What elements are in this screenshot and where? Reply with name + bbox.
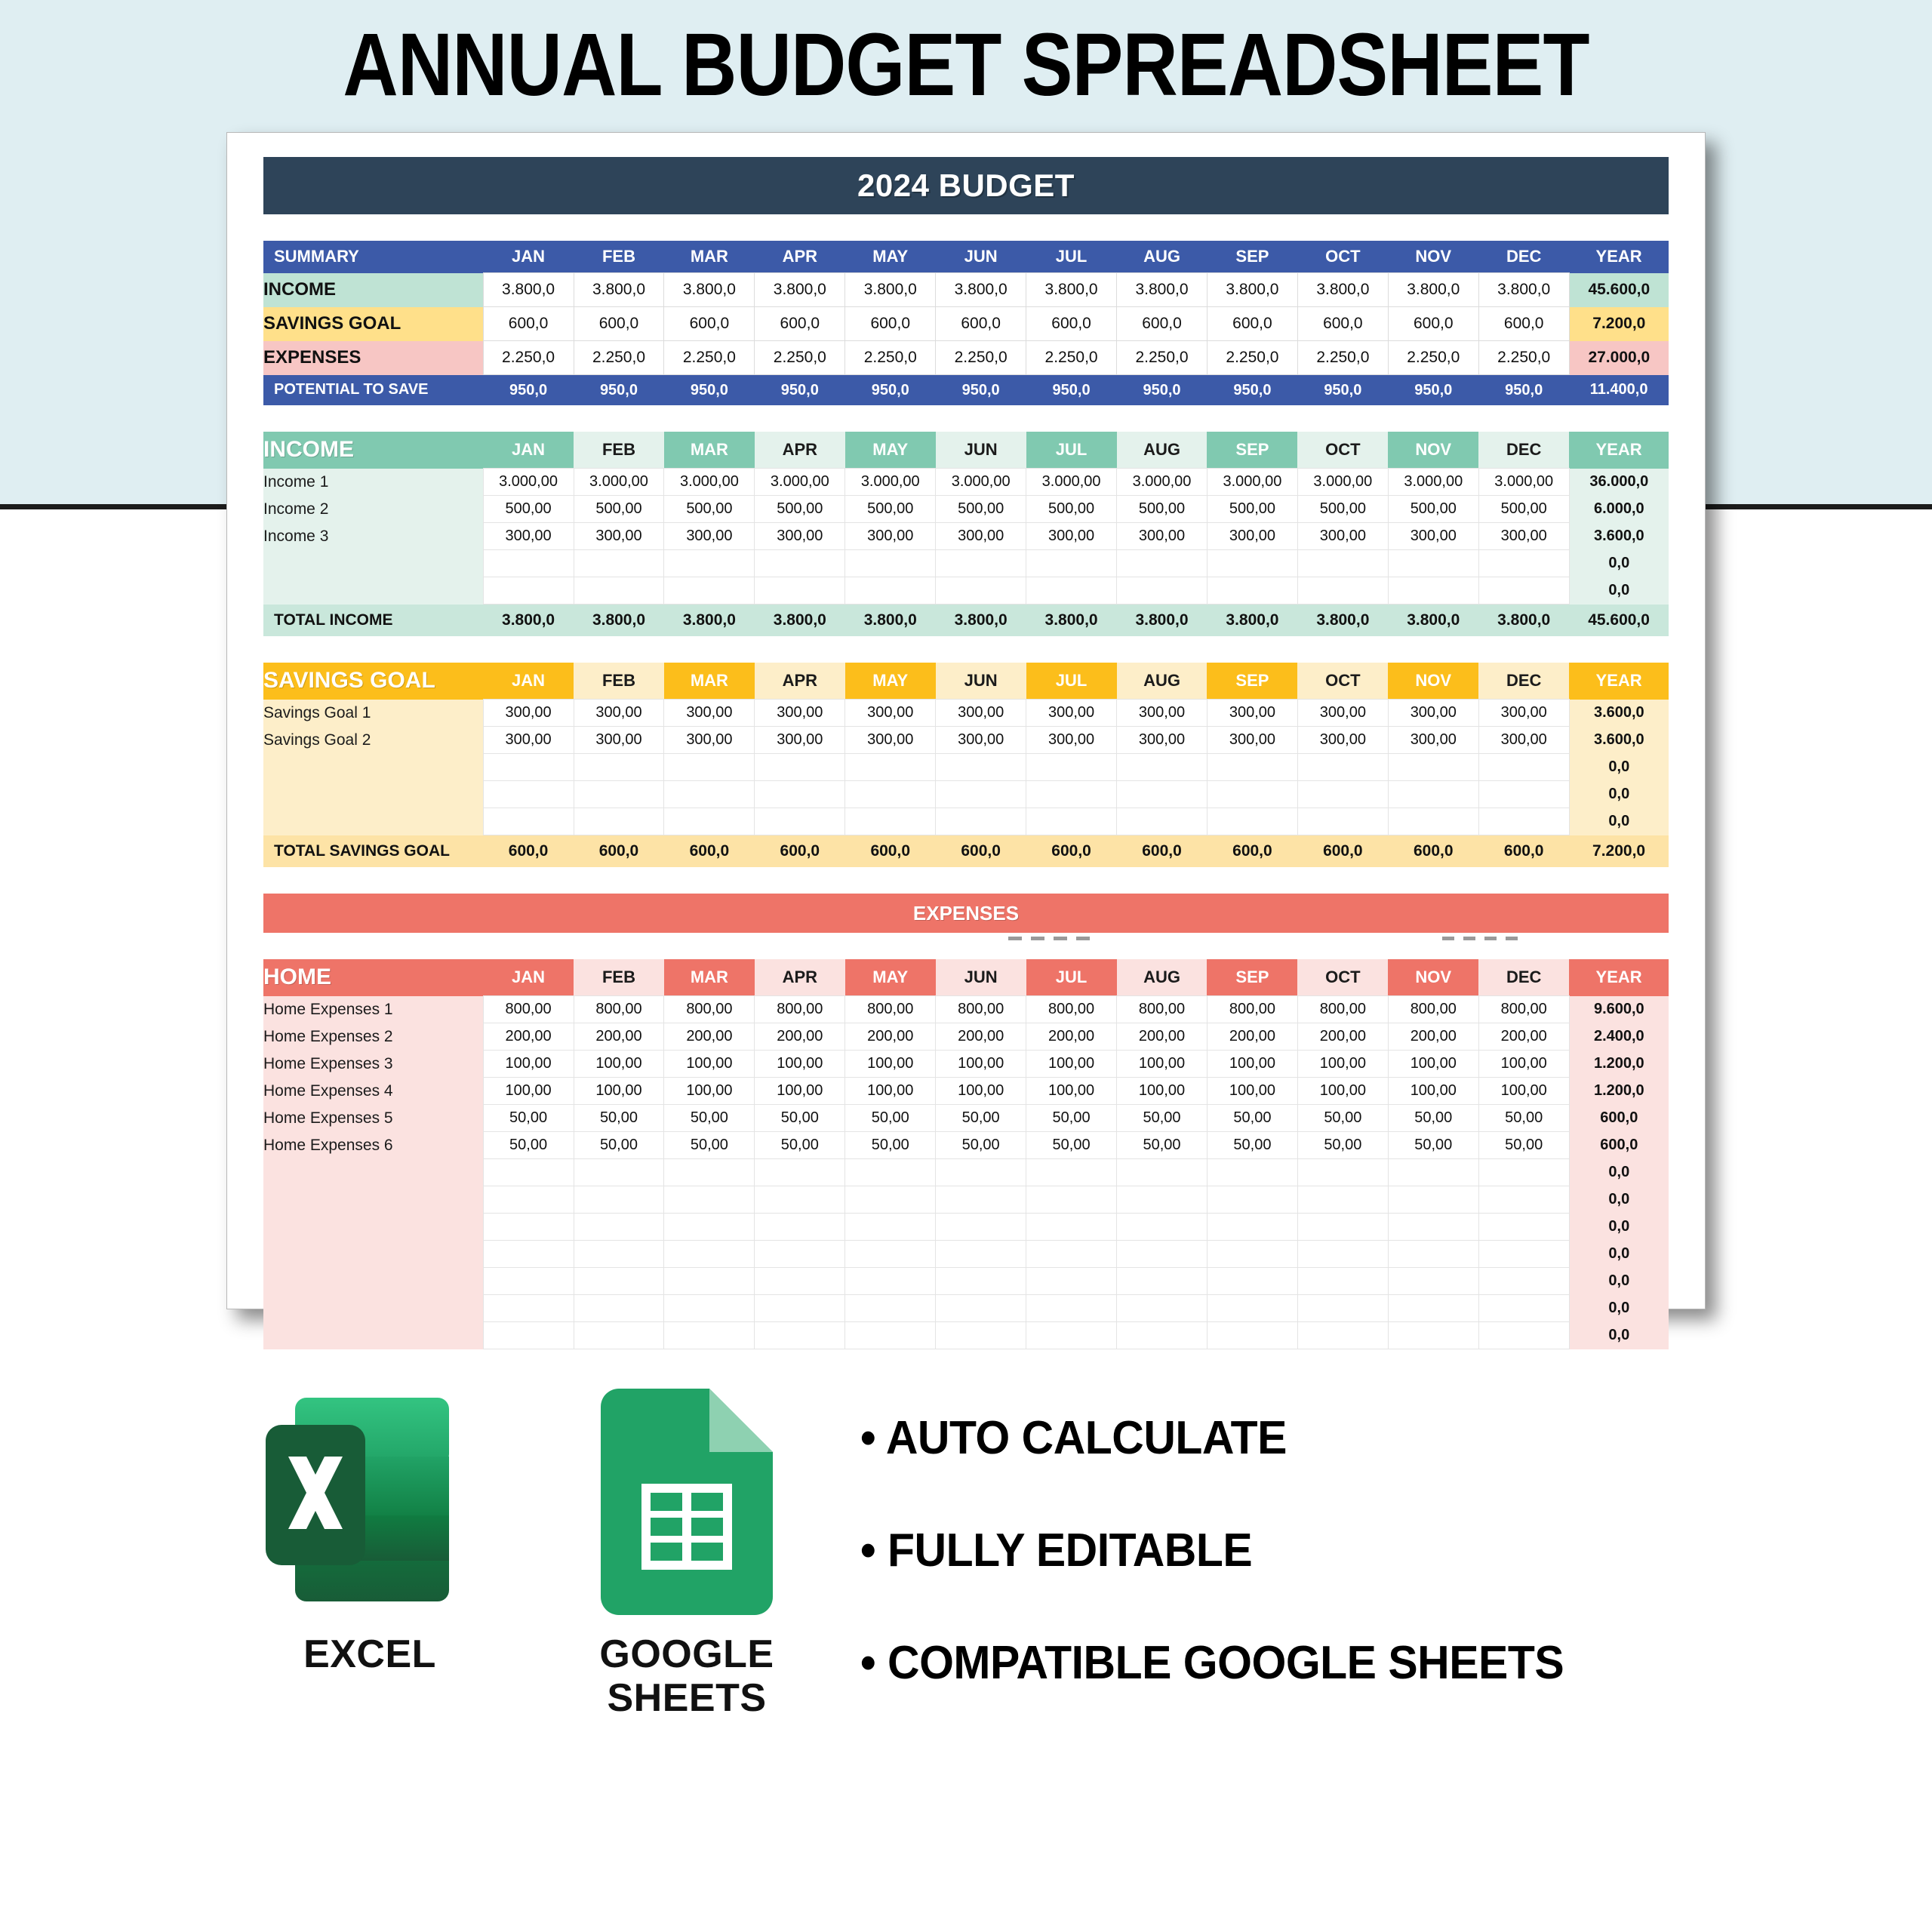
expenses-cell[interactable] bbox=[574, 1322, 664, 1349]
expenses-cell[interactable]: 50,00 bbox=[755, 1132, 845, 1159]
expenses-cell[interactable] bbox=[574, 1268, 664, 1295]
income-cell[interactable]: 300,00 bbox=[1117, 523, 1207, 550]
expenses-cell[interactable]: 800,00 bbox=[1117, 996, 1207, 1023]
income-cell[interactable]: 3.000,00 bbox=[664, 469, 755, 496]
expenses-cell[interactable]: 100,00 bbox=[936, 1078, 1026, 1105]
expenses-cell[interactable] bbox=[936, 1241, 1026, 1268]
income-cell[interactable] bbox=[483, 550, 574, 577]
income-cell[interactable] bbox=[845, 550, 936, 577]
income-cell[interactable] bbox=[1207, 550, 1297, 577]
expenses-cell[interactable] bbox=[1117, 1159, 1207, 1186]
savings-cell[interactable] bbox=[1388, 754, 1478, 781]
expenses-cell[interactable]: 50,00 bbox=[1117, 1132, 1207, 1159]
income-cell[interactable]: 3.000,00 bbox=[936, 469, 1026, 496]
expenses-cell[interactable] bbox=[664, 1214, 755, 1241]
savings-row-label[interactable] bbox=[263, 754, 483, 781]
summary-cell[interactable]: 2.250,0 bbox=[664, 341, 755, 375]
expenses-cell[interactable]: 200,00 bbox=[574, 1023, 664, 1051]
expenses-cell[interactable] bbox=[1117, 1268, 1207, 1295]
savings-cell[interactable] bbox=[1117, 781, 1207, 808]
income-cell[interactable] bbox=[1117, 550, 1207, 577]
expenses-cell[interactable]: 200,00 bbox=[1388, 1023, 1478, 1051]
income-cell[interactable]: 500,00 bbox=[1388, 496, 1478, 523]
expenses-cell[interactable] bbox=[1117, 1214, 1207, 1241]
savings-cell[interactable]: 300,00 bbox=[574, 727, 664, 754]
expenses-cell[interactable] bbox=[1388, 1186, 1478, 1214]
savings-cell[interactable]: 300,00 bbox=[755, 727, 845, 754]
expenses-cell[interactable]: 100,00 bbox=[755, 1078, 845, 1105]
summary-cell[interactable]: 3.800,0 bbox=[936, 273, 1026, 307]
expenses-cell[interactable] bbox=[1478, 1159, 1569, 1186]
expenses-cell[interactable]: 100,00 bbox=[1117, 1078, 1207, 1105]
expenses-cell[interactable] bbox=[483, 1295, 574, 1322]
summary-cell[interactable]: 600,0 bbox=[755, 307, 845, 341]
expenses-cell[interactable]: 50,00 bbox=[1117, 1105, 1207, 1132]
savings-cell[interactable]: 300,00 bbox=[1297, 727, 1388, 754]
expenses-cell[interactable]: 200,00 bbox=[1117, 1023, 1207, 1051]
expenses-cell[interactable]: 100,00 bbox=[1207, 1078, 1297, 1105]
income-cell[interactable] bbox=[1297, 550, 1388, 577]
expenses-cell[interactable] bbox=[845, 1241, 936, 1268]
expenses-cell[interactable]: 100,00 bbox=[574, 1051, 664, 1078]
income-cell[interactable] bbox=[483, 577, 574, 605]
expenses-cell[interactable]: 100,00 bbox=[1297, 1078, 1388, 1105]
expenses-cell[interactable] bbox=[1388, 1241, 1478, 1268]
income-cell[interactable] bbox=[1117, 577, 1207, 605]
expenses-cell[interactable]: 800,00 bbox=[845, 996, 936, 1023]
expenses-cell[interactable]: 100,00 bbox=[1117, 1051, 1207, 1078]
income-cell[interactable] bbox=[1478, 550, 1569, 577]
savings-cell[interactable] bbox=[1297, 781, 1388, 808]
savings-cell[interactable]: 300,00 bbox=[936, 700, 1026, 727]
income-cell[interactable] bbox=[574, 550, 664, 577]
income-cell[interactable]: 300,00 bbox=[845, 523, 936, 550]
income-cell[interactable] bbox=[1207, 577, 1297, 605]
savings-cell[interactable] bbox=[845, 808, 936, 835]
expenses-cell[interactable]: 100,00 bbox=[574, 1078, 664, 1105]
expenses-cell[interactable] bbox=[1117, 1295, 1207, 1322]
income-cell[interactable]: 500,00 bbox=[1297, 496, 1388, 523]
expenses-row-label[interactable]: Home Expenses 6 bbox=[263, 1132, 483, 1159]
income-cell[interactable]: 300,00 bbox=[1026, 523, 1117, 550]
income-cell[interactable]: 500,00 bbox=[1117, 496, 1207, 523]
expenses-cell[interactable] bbox=[483, 1186, 574, 1214]
expenses-cell[interactable] bbox=[755, 1159, 845, 1186]
savings-cell[interactable] bbox=[1388, 808, 1478, 835]
expenses-cell[interactable] bbox=[1026, 1214, 1117, 1241]
expenses-row-label[interactable] bbox=[263, 1186, 483, 1214]
summary-cell[interactable]: 600,0 bbox=[845, 307, 936, 341]
expenses-row-label[interactable]: Home Expenses 4 bbox=[263, 1078, 483, 1105]
expenses-cell[interactable]: 100,00 bbox=[936, 1051, 1026, 1078]
expenses-cell[interactable]: 50,00 bbox=[1388, 1105, 1478, 1132]
expenses-row-label[interactable] bbox=[263, 1322, 483, 1349]
summary-cell[interactable]: 2.250,0 bbox=[845, 341, 936, 375]
expenses-cell[interactable]: 200,00 bbox=[1297, 1023, 1388, 1051]
income-cell[interactable]: 300,00 bbox=[1207, 523, 1297, 550]
income-cell[interactable]: 300,00 bbox=[1297, 523, 1388, 550]
savings-cell[interactable] bbox=[1297, 808, 1388, 835]
expenses-cell[interactable] bbox=[1026, 1186, 1117, 1214]
expenses-cell[interactable]: 100,00 bbox=[1388, 1078, 1478, 1105]
summary-cell[interactable]: 600,0 bbox=[936, 307, 1026, 341]
expenses-row-label[interactable]: Home Expenses 3 bbox=[263, 1051, 483, 1078]
income-cell[interactable]: 3.000,00 bbox=[845, 469, 936, 496]
summary-cell[interactable]: 600,0 bbox=[1117, 307, 1207, 341]
expenses-cell[interactable] bbox=[1388, 1268, 1478, 1295]
savings-cell[interactable] bbox=[664, 808, 755, 835]
income-cell[interactable]: 3.000,00 bbox=[755, 469, 845, 496]
savings-cell[interactable] bbox=[483, 754, 574, 781]
income-cell[interactable] bbox=[755, 577, 845, 605]
savings-cell[interactable]: 300,00 bbox=[1207, 700, 1297, 727]
expenses-cell[interactable]: 200,00 bbox=[1207, 1023, 1297, 1051]
savings-cell[interactable]: 300,00 bbox=[845, 727, 936, 754]
savings-cell[interactable] bbox=[1117, 808, 1207, 835]
expenses-cell[interactable] bbox=[936, 1214, 1026, 1241]
expenses-cell[interactable]: 50,00 bbox=[1478, 1105, 1569, 1132]
expenses-cell[interactable]: 50,00 bbox=[1026, 1132, 1117, 1159]
expenses-cell[interactable]: 50,00 bbox=[1207, 1105, 1297, 1132]
savings-cell[interactable] bbox=[1478, 781, 1569, 808]
expenses-row-label[interactable] bbox=[263, 1268, 483, 1295]
income-row-label[interactable] bbox=[263, 550, 483, 577]
expenses-row-label[interactable] bbox=[263, 1241, 483, 1268]
expenses-row-label[interactable]: Home Expenses 1 bbox=[263, 996, 483, 1023]
summary-cell[interactable]: 600,0 bbox=[1026, 307, 1117, 341]
expenses-cell[interactable] bbox=[1478, 1186, 1569, 1214]
summary-cell[interactable]: 2.250,0 bbox=[936, 341, 1026, 375]
expenses-cell[interactable] bbox=[936, 1186, 1026, 1214]
expenses-cell[interactable] bbox=[664, 1241, 755, 1268]
summary-cell[interactable]: 600,0 bbox=[664, 307, 755, 341]
expenses-cell[interactable]: 50,00 bbox=[1207, 1132, 1297, 1159]
income-cell[interactable]: 3.000,00 bbox=[1297, 469, 1388, 496]
income-cell[interactable]: 500,00 bbox=[664, 496, 755, 523]
summary-cell[interactable]: 3.800,0 bbox=[845, 273, 936, 307]
expenses-cell[interactable]: 50,00 bbox=[483, 1105, 574, 1132]
savings-cell[interactable] bbox=[1207, 754, 1297, 781]
expenses-cell[interactable]: 100,00 bbox=[483, 1078, 574, 1105]
income-cell[interactable] bbox=[1297, 577, 1388, 605]
savings-row-label[interactable] bbox=[263, 781, 483, 808]
summary-cell[interactable]: 3.800,0 bbox=[664, 273, 755, 307]
summary-cell[interactable]: 3.800,0 bbox=[483, 273, 574, 307]
income-cell[interactable] bbox=[664, 550, 755, 577]
summary-cell[interactable]: 600,0 bbox=[1478, 307, 1569, 341]
savings-cell[interactable]: 300,00 bbox=[1207, 727, 1297, 754]
expenses-cell[interactable] bbox=[483, 1322, 574, 1349]
summary-cell[interactable]: 600,0 bbox=[574, 307, 664, 341]
expenses-cell[interactable]: 100,00 bbox=[845, 1078, 936, 1105]
summary-cell[interactable]: 3.800,0 bbox=[1207, 273, 1297, 307]
expenses-cell[interactable]: 200,00 bbox=[1026, 1023, 1117, 1051]
savings-cell[interactable]: 300,00 bbox=[1026, 727, 1117, 754]
savings-cell[interactable] bbox=[845, 754, 936, 781]
expenses-cell[interactable]: 100,00 bbox=[1026, 1078, 1117, 1105]
savings-cell[interactable] bbox=[1207, 808, 1297, 835]
expenses-cell[interactable] bbox=[574, 1295, 664, 1322]
income-cell[interactable]: 3.000,00 bbox=[483, 469, 574, 496]
expenses-cell[interactable]: 50,00 bbox=[845, 1105, 936, 1132]
savings-cell[interactable] bbox=[664, 781, 755, 808]
expenses-cell[interactable]: 800,00 bbox=[1026, 996, 1117, 1023]
expenses-cell[interactable]: 50,00 bbox=[936, 1105, 1026, 1132]
expenses-cell[interactable]: 800,00 bbox=[1297, 996, 1388, 1023]
income-cell[interactable]: 500,00 bbox=[1478, 496, 1569, 523]
expenses-cell[interactable]: 800,00 bbox=[936, 996, 1026, 1023]
expenses-cell[interactable] bbox=[936, 1268, 1026, 1295]
expenses-cell[interactable] bbox=[574, 1159, 664, 1186]
savings-cell[interactable]: 300,00 bbox=[574, 700, 664, 727]
expenses-cell[interactable] bbox=[1207, 1159, 1297, 1186]
expenses-cell[interactable]: 100,00 bbox=[664, 1051, 755, 1078]
income-row-label[interactable] bbox=[263, 577, 483, 605]
savings-cell[interactable] bbox=[755, 781, 845, 808]
expenses-cell[interactable] bbox=[1117, 1186, 1207, 1214]
savings-row-label[interactable]: Savings Goal 1 bbox=[263, 700, 483, 727]
expenses-cell[interactable]: 200,00 bbox=[936, 1023, 1026, 1051]
savings-cell[interactable] bbox=[1478, 754, 1569, 781]
income-cell[interactable]: 300,00 bbox=[1388, 523, 1478, 550]
expenses-cell[interactable]: 100,00 bbox=[1207, 1051, 1297, 1078]
expenses-cell[interactable]: 100,00 bbox=[483, 1051, 574, 1078]
income-cell[interactable]: 300,00 bbox=[755, 523, 845, 550]
expenses-cell[interactable]: 100,00 bbox=[845, 1051, 936, 1078]
income-cell[interactable]: 500,00 bbox=[1026, 496, 1117, 523]
income-cell[interactable]: 3.000,00 bbox=[1026, 469, 1117, 496]
expenses-cell[interactable]: 200,00 bbox=[755, 1023, 845, 1051]
expenses-cell[interactable] bbox=[845, 1295, 936, 1322]
income-cell[interactable] bbox=[1026, 550, 1117, 577]
expenses-cell[interactable] bbox=[574, 1186, 664, 1214]
savings-cell[interactable]: 300,00 bbox=[1026, 700, 1117, 727]
savings-cell[interactable] bbox=[664, 754, 755, 781]
savings-cell[interactable]: 300,00 bbox=[755, 700, 845, 727]
income-cell[interactable]: 300,00 bbox=[664, 523, 755, 550]
expenses-cell[interactable]: 50,00 bbox=[1297, 1132, 1388, 1159]
expenses-cell[interactable] bbox=[1297, 1268, 1388, 1295]
expenses-cell[interactable] bbox=[483, 1268, 574, 1295]
expenses-cell[interactable]: 200,00 bbox=[483, 1023, 574, 1051]
expenses-cell[interactable] bbox=[845, 1214, 936, 1241]
expenses-cell[interactable] bbox=[1207, 1268, 1297, 1295]
savings-cell[interactable] bbox=[1478, 808, 1569, 835]
expenses-cell[interactable] bbox=[574, 1241, 664, 1268]
savings-cell[interactable]: 300,00 bbox=[483, 727, 574, 754]
expenses-cell[interactable] bbox=[936, 1295, 1026, 1322]
expenses-cell[interactable] bbox=[1117, 1322, 1207, 1349]
expenses-row-label[interactable]: Home Expenses 5 bbox=[263, 1105, 483, 1132]
savings-cell[interactable]: 300,00 bbox=[664, 700, 755, 727]
expenses-cell[interactable]: 50,00 bbox=[845, 1132, 936, 1159]
expenses-cell[interactable] bbox=[664, 1159, 755, 1186]
expenses-cell[interactable] bbox=[1388, 1214, 1478, 1241]
summary-cell[interactable]: 2.250,0 bbox=[1026, 341, 1117, 375]
summary-cell[interactable]: 3.800,0 bbox=[1297, 273, 1388, 307]
expenses-cell[interactable] bbox=[755, 1268, 845, 1295]
income-row-label[interactable]: Income 2 bbox=[263, 496, 483, 523]
savings-cell[interactable]: 300,00 bbox=[664, 727, 755, 754]
savings-cell[interactable]: 300,00 bbox=[1297, 700, 1388, 727]
summary-cell[interactable]: 2.250,0 bbox=[574, 341, 664, 375]
income-cell[interactable]: 300,00 bbox=[936, 523, 1026, 550]
expenses-cell[interactable] bbox=[845, 1268, 936, 1295]
savings-cell[interactable] bbox=[1026, 754, 1117, 781]
expenses-cell[interactable] bbox=[664, 1322, 755, 1349]
savings-cell[interactable] bbox=[755, 754, 845, 781]
savings-cell[interactable]: 300,00 bbox=[845, 700, 936, 727]
expenses-cell[interactable]: 50,00 bbox=[936, 1132, 1026, 1159]
expenses-cell[interactable] bbox=[845, 1322, 936, 1349]
expenses-cell[interactable] bbox=[483, 1241, 574, 1268]
expenses-cell[interactable]: 100,00 bbox=[1388, 1051, 1478, 1078]
summary-cell[interactable]: 600,0 bbox=[483, 307, 574, 341]
income-cell[interactable] bbox=[1026, 577, 1117, 605]
income-cell[interactable] bbox=[574, 577, 664, 605]
expenses-cell[interactable]: 50,00 bbox=[483, 1132, 574, 1159]
expenses-cell[interactable]: 200,00 bbox=[664, 1023, 755, 1051]
savings-cell[interactable] bbox=[755, 808, 845, 835]
expenses-cell[interactable]: 50,00 bbox=[1388, 1132, 1478, 1159]
savings-cell[interactable]: 300,00 bbox=[1117, 700, 1207, 727]
income-cell[interactable]: 500,00 bbox=[936, 496, 1026, 523]
expenses-cell[interactable]: 100,00 bbox=[1026, 1051, 1117, 1078]
income-cell[interactable]: 500,00 bbox=[845, 496, 936, 523]
expenses-row-label[interactable] bbox=[263, 1295, 483, 1322]
income-cell[interactable]: 500,00 bbox=[574, 496, 664, 523]
expenses-row-label[interactable] bbox=[263, 1159, 483, 1186]
expenses-cell[interactable] bbox=[664, 1295, 755, 1322]
expenses-cell[interactable] bbox=[1207, 1186, 1297, 1214]
savings-cell[interactable] bbox=[1297, 754, 1388, 781]
expenses-cell[interactable] bbox=[574, 1214, 664, 1241]
expenses-cell[interactable] bbox=[1026, 1268, 1117, 1295]
income-cell[interactable] bbox=[845, 577, 936, 605]
savings-cell[interactable]: 300,00 bbox=[483, 700, 574, 727]
expenses-cell[interactable] bbox=[1026, 1295, 1117, 1322]
expenses-cell[interactable]: 50,00 bbox=[1026, 1105, 1117, 1132]
expenses-cell[interactable] bbox=[1117, 1241, 1207, 1268]
expenses-cell[interactable]: 100,00 bbox=[1297, 1051, 1388, 1078]
expenses-cell[interactable] bbox=[1297, 1322, 1388, 1349]
expenses-cell[interactable] bbox=[1478, 1268, 1569, 1295]
income-cell[interactable] bbox=[936, 550, 1026, 577]
income-cell[interactable] bbox=[936, 577, 1026, 605]
expenses-cell[interactable]: 100,00 bbox=[664, 1078, 755, 1105]
income-cell[interactable]: 500,00 bbox=[483, 496, 574, 523]
expenses-cell[interactable]: 50,00 bbox=[664, 1132, 755, 1159]
summary-cell[interactable]: 3.800,0 bbox=[1117, 273, 1207, 307]
summary-cell[interactable]: 3.800,0 bbox=[755, 273, 845, 307]
expenses-cell[interactable] bbox=[1207, 1241, 1297, 1268]
expenses-cell[interactable] bbox=[1478, 1295, 1569, 1322]
expenses-cell[interactable]: 800,00 bbox=[1478, 996, 1569, 1023]
expenses-cell[interactable] bbox=[1026, 1159, 1117, 1186]
savings-cell[interactable] bbox=[1026, 781, 1117, 808]
income-cell[interactable]: 500,00 bbox=[1207, 496, 1297, 523]
income-cell[interactable] bbox=[1478, 577, 1569, 605]
expenses-cell[interactable] bbox=[1297, 1159, 1388, 1186]
expenses-row-label[interactable] bbox=[263, 1214, 483, 1241]
savings-cell[interactable]: 300,00 bbox=[1388, 700, 1478, 727]
savings-cell[interactable] bbox=[936, 808, 1026, 835]
expenses-cell[interactable] bbox=[845, 1186, 936, 1214]
expenses-cell[interactable] bbox=[936, 1159, 1026, 1186]
income-row-label[interactable]: Income 1 bbox=[263, 469, 483, 496]
expenses-cell[interactable] bbox=[1207, 1322, 1297, 1349]
savings-cell[interactable] bbox=[1117, 754, 1207, 781]
summary-cell[interactable]: 2.250,0 bbox=[755, 341, 845, 375]
summary-cell[interactable]: 3.800,0 bbox=[574, 273, 664, 307]
savings-cell[interactable] bbox=[483, 808, 574, 835]
expenses-cell[interactable] bbox=[664, 1186, 755, 1214]
savings-cell[interactable]: 300,00 bbox=[936, 727, 1026, 754]
expenses-cell[interactable] bbox=[664, 1268, 755, 1295]
expenses-cell[interactable] bbox=[1478, 1214, 1569, 1241]
expenses-cell[interactable]: 50,00 bbox=[755, 1105, 845, 1132]
expenses-cell[interactable] bbox=[755, 1186, 845, 1214]
summary-cell[interactable]: 600,0 bbox=[1207, 307, 1297, 341]
income-cell[interactable]: 3.000,00 bbox=[1478, 469, 1569, 496]
income-cell[interactable] bbox=[1388, 550, 1478, 577]
expenses-cell[interactable]: 800,00 bbox=[1207, 996, 1297, 1023]
summary-cell[interactable]: 3.800,0 bbox=[1026, 273, 1117, 307]
expenses-cell[interactable] bbox=[755, 1322, 845, 1349]
savings-cell[interactable]: 300,00 bbox=[1478, 700, 1569, 727]
income-cell[interactable]: 500,00 bbox=[755, 496, 845, 523]
savings-cell[interactable] bbox=[1207, 781, 1297, 808]
summary-cell[interactable]: 2.250,0 bbox=[1478, 341, 1569, 375]
expenses-cell[interactable] bbox=[1388, 1295, 1478, 1322]
summary-cell[interactable]: 2.250,0 bbox=[1388, 341, 1478, 375]
income-cell[interactable]: 3.000,00 bbox=[574, 469, 664, 496]
expenses-cell[interactable] bbox=[483, 1214, 574, 1241]
expenses-cell[interactable] bbox=[483, 1159, 574, 1186]
expenses-cell[interactable] bbox=[755, 1241, 845, 1268]
savings-cell[interactable] bbox=[483, 781, 574, 808]
savings-cell[interactable]: 300,00 bbox=[1478, 727, 1569, 754]
income-cell[interactable]: 300,00 bbox=[1478, 523, 1569, 550]
savings-cell[interactable] bbox=[574, 781, 664, 808]
expenses-cell[interactable] bbox=[755, 1295, 845, 1322]
savings-cell[interactable] bbox=[574, 808, 664, 835]
income-cell[interactable] bbox=[1388, 577, 1478, 605]
savings-cell[interactable] bbox=[574, 754, 664, 781]
income-cell[interactable]: 300,00 bbox=[483, 523, 574, 550]
expenses-cell[interactable]: 50,00 bbox=[574, 1132, 664, 1159]
expenses-cell[interactable]: 800,00 bbox=[483, 996, 574, 1023]
expenses-cell[interactable]: 200,00 bbox=[845, 1023, 936, 1051]
savings-cell[interactable]: 300,00 bbox=[1388, 727, 1478, 754]
expenses-cell[interactable] bbox=[1026, 1241, 1117, 1268]
expenses-cell[interactable]: 50,00 bbox=[1297, 1105, 1388, 1132]
summary-cell[interactable]: 3.800,0 bbox=[1388, 273, 1478, 307]
expenses-cell[interactable] bbox=[1207, 1214, 1297, 1241]
income-cell[interactable]: 3.000,00 bbox=[1207, 469, 1297, 496]
summary-cell[interactable]: 2.250,0 bbox=[1117, 341, 1207, 375]
expenses-cell[interactable]: 50,00 bbox=[664, 1105, 755, 1132]
summary-cell[interactable]: 600,0 bbox=[1297, 307, 1388, 341]
expenses-cell[interactable] bbox=[1297, 1186, 1388, 1214]
expenses-cell[interactable] bbox=[1478, 1241, 1569, 1268]
savings-cell[interactable] bbox=[1388, 781, 1478, 808]
summary-cell[interactable]: 2.250,0 bbox=[1297, 341, 1388, 375]
expenses-cell[interactable]: 200,00 bbox=[1478, 1023, 1569, 1051]
expenses-cell[interactable] bbox=[1026, 1322, 1117, 1349]
expenses-cell[interactable]: 800,00 bbox=[574, 996, 664, 1023]
expenses-cell[interactable] bbox=[1297, 1241, 1388, 1268]
